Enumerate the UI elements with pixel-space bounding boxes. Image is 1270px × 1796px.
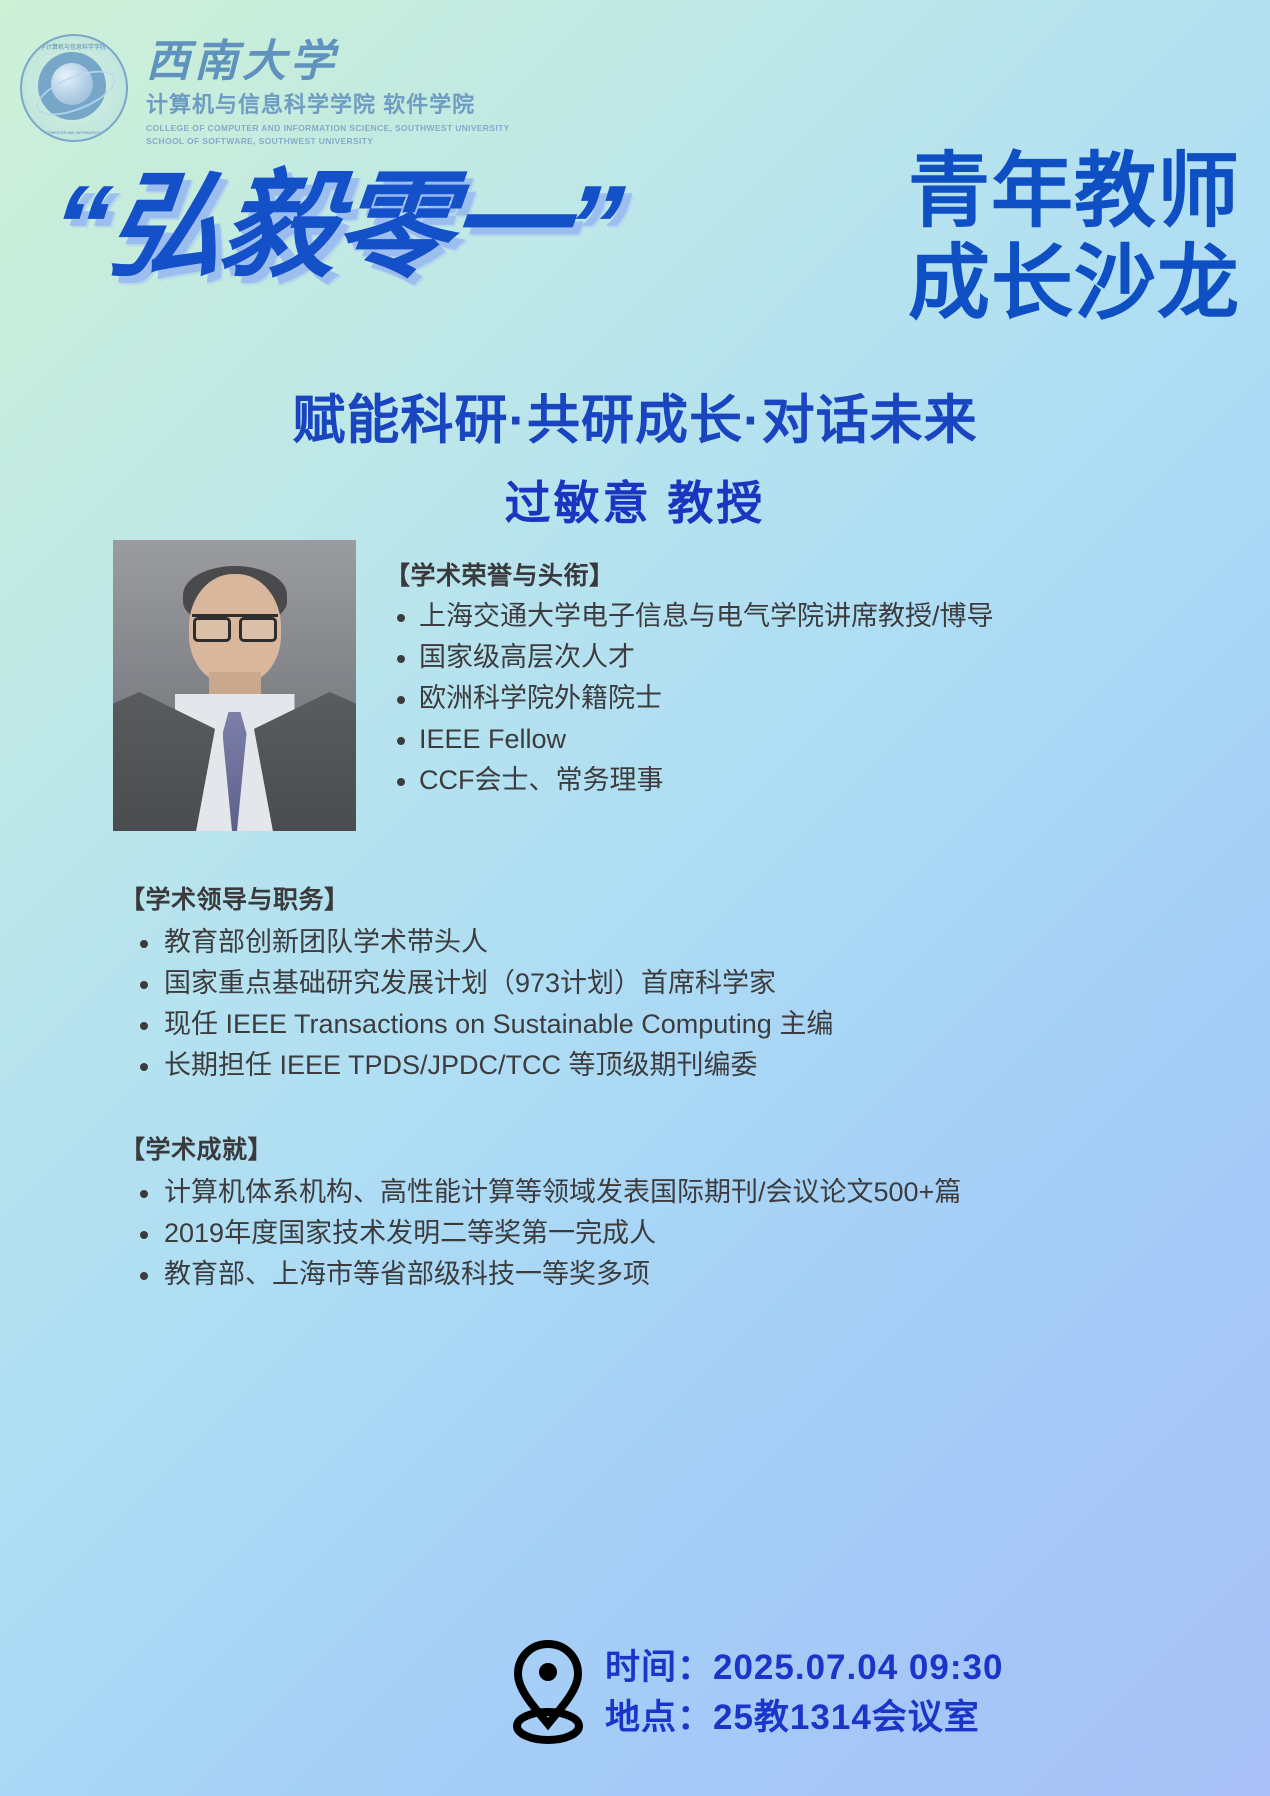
university-seal-icon: 西南大学计算机与信息科学学院 软件学院 COLLEGE OF COMPUTER … — [20, 34, 128, 142]
list-item: 欧洲科学院外籍院士 — [385, 678, 1125, 719]
list-item: 2019年度国家技术发明二等奖第一完成人 — [120, 1213, 1130, 1254]
event-time: 时间：2025.07.04 09:30 — [605, 1643, 1003, 1693]
brand-block: 西南大学 计算机与信息科学学院 软件学院 COLLEGE OF COMPUTER… — [146, 34, 510, 147]
poster-header: 西南大学计算机与信息科学学院 软件学院 COLLEGE OF COMPUTER … — [20, 34, 510, 147]
portrait-glasses-icon — [192, 614, 278, 637]
college-name-cn: 计算机与信息科学学院 软件学院 — [146, 93, 510, 117]
seal-english-text: COLLEGE OF COMPUTER AND INFORMATION SCIE… — [22, 131, 126, 135]
poster-subtitle: 赋能科研·共研成长·对话未来 — [0, 378, 1270, 454]
list-item: 长期担任 IEEE TPDS/JPDC/TCC 等顶级期刊编委 — [120, 1045, 1130, 1086]
achievements-section: 【学术成就】 计算机体系机构、高性能计算等领域发表国际期刊/会议论文500+篇 … — [120, 1130, 1130, 1295]
list-item: 现任 IEEE Transactions on Sustainable Comp… — [120, 1004, 1130, 1045]
list-item: 教育部、上海市等省部级科技一等奖多项 — [120, 1254, 1130, 1295]
college-en-line-1: COLLEGE OF COMPUTER AND INFORMATION SCIE… — [146, 122, 510, 134]
honors-list: 上海交通大学电子信息与电气学院讲席教授/博导 国家级高层次人才 欧洲科学院外籍院… — [385, 596, 1125, 801]
title-right-block: 青年教师 成长沙龙 — [908, 146, 1240, 330]
speaker-name: 过敏意 教授 — [0, 467, 1270, 533]
leadership-list: 教育部创新团队学术带头人 国家重点基础研究发展计划（973计划）首席科学家 现任… — [120, 922, 1130, 1086]
list-item: 国家重点基础研究发展计划（973计划）首席科学家 — [120, 963, 1130, 1004]
location-pin-icon — [505, 1638, 591, 1748]
university-name: 西南大学 — [146, 40, 510, 84]
list-item: 上海交通大学电子信息与电气学院讲席教授/博导 — [385, 596, 1125, 637]
list-item: 教育部创新团队学术带头人 — [120, 922, 1130, 963]
leadership-heading: 【学术领导与职务】 — [120, 880, 1130, 916]
honors-heading: 【学术荣誉与头衔】 — [385, 556, 1125, 592]
achievements-list: 计算机体系机构、高性能计算等领域发表国际期刊/会议论文500+篇 2019年度国… — [120, 1172, 1130, 1295]
seal-chinese-text: 西南大学计算机与信息科学学院 软件学院 — [22, 42, 126, 51]
honors-section: 【学术荣誉与头衔】 上海交通大学电子信息与电气学院讲席教授/博导 国家级高层次人… — [385, 556, 1125, 801]
speaker-portrait-photo — [113, 540, 356, 831]
leadership-section: 【学术领导与职务】 教育部创新团队学术带头人 国家重点基础研究发展计划（973计… — [120, 880, 1130, 1086]
event-details-footer: 时间：2025.07.04 09:30 地点：25教1314会议室 — [505, 1638, 1003, 1748]
footer-text-block: 时间：2025.07.04 09:30 地点：25教1314会议室 — [605, 1643, 1003, 1742]
title-line-1: 青年教师 — [908, 146, 1240, 238]
title-quoted-phrase: “弘毅零一” — [46, 168, 626, 284]
list-item: IEEE Fellow — [385, 719, 1125, 760]
event-location: 地点：25教1314会议室 — [605, 1693, 1003, 1743]
title-line-2: 成长沙龙 — [908, 238, 1240, 330]
list-item: 国家级高层次人才 — [385, 637, 1125, 678]
list-item: CCF会士、常务理事 — [385, 760, 1125, 801]
title-zone: “弘毅零一” 青年教师 成长沙龙 — [0, 140, 1270, 400]
poster-root: 西南大学计算机与信息科学学院 软件学院 COLLEGE OF COMPUTER … — [0, 0, 1270, 1796]
achievements-heading: 【学术成就】 — [120, 1130, 1130, 1166]
list-item: 计算机体系机构、高性能计算等领域发表国际期刊/会议论文500+篇 — [120, 1172, 1130, 1213]
